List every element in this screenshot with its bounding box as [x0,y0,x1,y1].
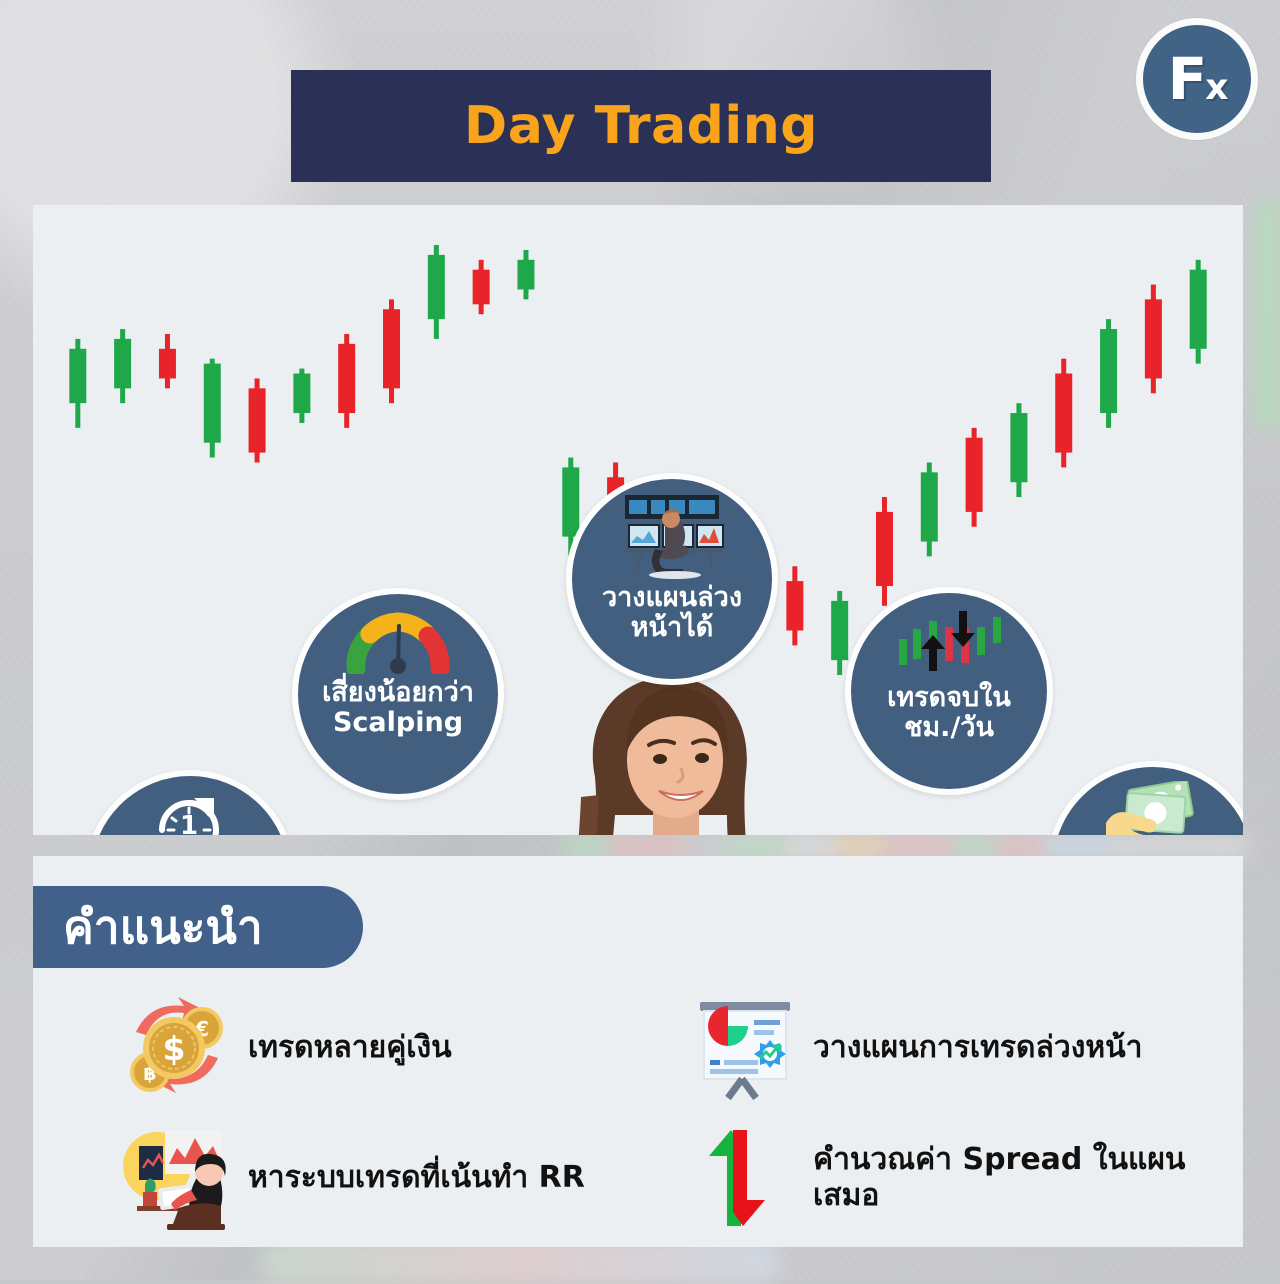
tip-plan-ahead[interactable]: วางแผนการเทรดล่วงหน้า [653,975,1243,1120]
currency-exchange-coins-icon: € ฿ $ [118,992,238,1104]
tip-rr-system[interactable]: หาระบบเทรดที่เน้นทำ RR [33,1120,653,1235]
one-hour-clock-icon: 1 HOUR [148,790,232,835]
trader-desk-icon [613,493,731,579]
background-candle-blur-strip [560,836,1250,858]
fx-logo-text: Fx [1168,50,1227,108]
businesswoman-with-tablet-photo [503,665,833,835]
tip-multi-pairs-label: เทรดหลายคู่เงิน [248,1030,452,1066]
hero-panel: 1 HOUR เทรด TF15m-1H เสี่ยงน้อยกว่าScalp… [33,205,1243,835]
svg-text:1: 1 [180,811,198,835]
woman-at-laptop-icon [113,1124,243,1232]
up-down-arrows-icon-wrap [673,1126,813,1230]
presentation-board-icon-wrap [673,992,813,1104]
candles-arrows-icon [889,607,1009,679]
title-banner: Day Trading [291,70,991,182]
background-candle-blur-green [1255,200,1280,430]
woman-at-laptop-icon-wrap [108,1124,248,1232]
tips-grid: € ฿ $ เทรดหลายคู่เงิน [33,975,1243,1235]
tip-plan-ahead-label: วางแผนการเทรดล่วงหน้า [813,1030,1143,1066]
tip-spread-label: คำนวณค่า Spread ในแผนเสมอ [813,1142,1243,1214]
bubble-duration[interactable]: เทรดจบในชม./วัน [845,587,1053,795]
recommendations-heading-label: คำแนะนำ [63,891,263,964]
hand-money-icon [1098,781,1208,835]
currency-exchange-coins-icon-wrap: € ฿ $ [108,992,248,1104]
bubble-duration-label: เทรดจบในชม./วัน [881,683,1017,743]
bubble-planning[interactable]: วางแผนล่วงหน้าได้ [566,473,778,685]
risk-gauge-icon [344,608,452,674]
recommendations-heading: คำแนะนำ [33,886,363,968]
fx-logo[interactable]: Fx [1136,18,1258,140]
bubble-risk[interactable]: เสี่ยงน้อยกว่าScalping [292,588,504,800]
svg-text:$: $ [163,1029,186,1068]
up-down-arrows-icon [697,1126,789,1230]
presentation-board-icon [684,992,802,1104]
bubble-risk-label: เสี่ยงน้อยกว่าScalping [316,678,480,738]
tip-rr-system-label: หาระบบเทรดที่เน้นทำ RR [248,1160,585,1196]
page-title: Day Trading [464,96,818,156]
tip-multi-pairs[interactable]: € ฿ $ เทรดหลายคู่เงิน [33,975,653,1120]
tip-spread[interactable]: คำนวณค่า Spread ในแผนเสมอ [653,1120,1243,1235]
bubble-planning-label: วางแผนล่วงหน้าได้ [596,583,748,643]
